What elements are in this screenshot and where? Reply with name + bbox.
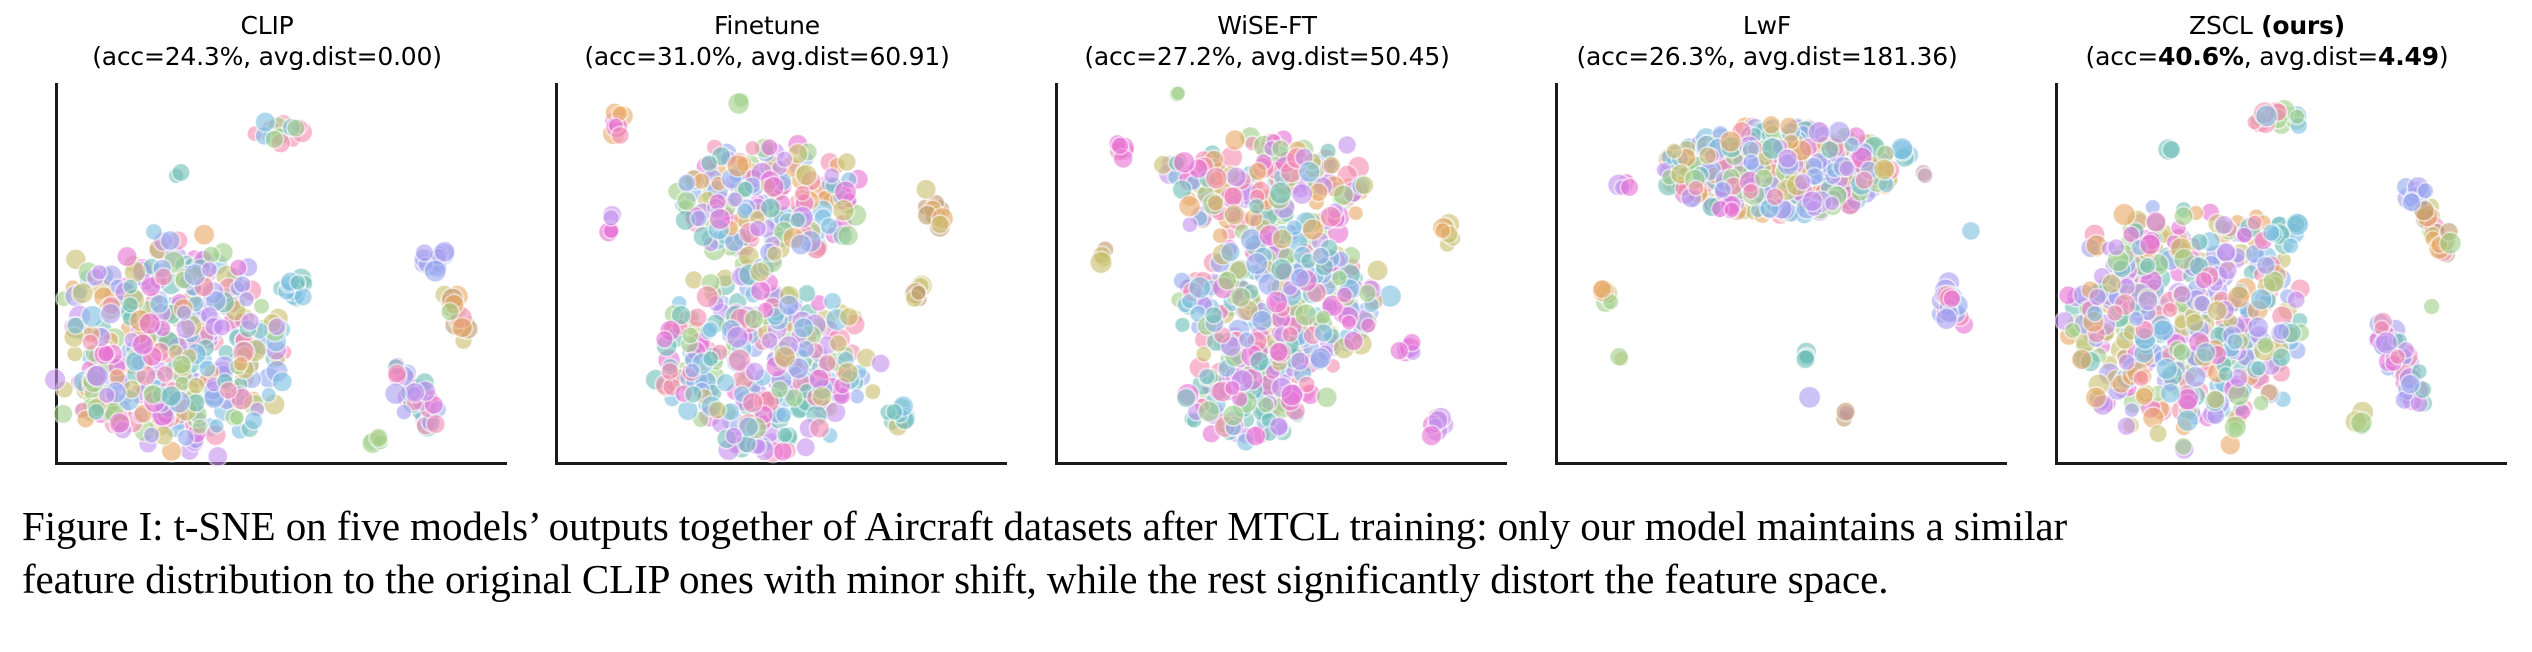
panel-title-clip: CLIP(acc=24.3%, avg.dist=0.00): [22, 10, 512, 72]
metrics-dist-value: 4.49: [2378, 42, 2439, 71]
panel-title-lwf: LwF(acc=26.3%, avg.dist=181.36): [1522, 10, 2012, 72]
panel-title-wiseft: WiSE-FT(acc=27.2%, avg.dist=50.45): [1022, 10, 1512, 72]
tsne-panel-clip: CLIP(acc=24.3%, avg.dist=0.00): [22, 0, 512, 490]
panel-model-name: WiSE-FT: [1217, 11, 1317, 40]
metrics-dist-label: , avg.dist=: [243, 42, 377, 71]
metrics-acc-value: 26.3%: [1649, 42, 1727, 71]
plot-area-clip: [55, 83, 507, 465]
metrics-dist-label: , avg.dist=: [735, 42, 869, 71]
metrics-dist-value: 60.91: [870, 42, 941, 71]
metrics-close-paren: ): [432, 42, 442, 71]
figure-caption: Figure I: t-SNE on five models’ outputs …: [22, 500, 2512, 606]
metrics-dist-value: 0.00: [377, 42, 432, 71]
metrics-dist-label: , avg.dist=: [1235, 42, 1369, 71]
metrics-acc-label: (acc=: [1084, 42, 1157, 71]
metrics-close-paren: ): [940, 42, 950, 71]
metrics-close-paren: ): [1948, 42, 1958, 71]
plot-area-wiseft: [1055, 83, 1507, 465]
tsne-panel-row: CLIP(acc=24.3%, avg.dist=0.00)Finetune(a…: [0, 0, 2532, 490]
tsne-panel-lwf: LwF(acc=26.3%, avg.dist=181.36): [1522, 0, 2012, 490]
metrics-close-paren: ): [1440, 42, 1450, 71]
panel-metrics: (acc=40.6%, avg.dist=4.49): [2022, 41, 2512, 72]
panel-title-zscl: ZSCL (ours)(acc=40.6%, avg.dist=4.49): [2022, 10, 2512, 72]
panel-metrics: (acc=31.0%, avg.dist=60.91): [522, 41, 1012, 72]
metrics-acc-label: (acc=: [92, 42, 165, 71]
metrics-acc-value: 24.3%: [165, 42, 243, 71]
tsne-panel-finetune: Finetune(acc=31.0%, avg.dist=60.91): [522, 0, 1012, 490]
panel-metrics: (acc=27.2%, avg.dist=50.45): [1022, 41, 1512, 72]
plot-area-finetune: [555, 83, 1007, 465]
panel-title-finetune: Finetune(acc=31.0%, avg.dist=60.91): [522, 10, 1012, 72]
tsne-panel-wiseft: WiSE-FT(acc=27.2%, avg.dist=50.45): [1022, 0, 1512, 490]
metrics-acc-label: (acc=: [2086, 42, 2159, 71]
panel-model-name: LwF: [1743, 11, 1791, 40]
panel-model-name: CLIP: [240, 11, 293, 40]
figure-root: CLIP(acc=24.3%, avg.dist=0.00)Finetune(a…: [0, 0, 2532, 652]
metrics-dist-value: 181.36: [1862, 42, 1948, 71]
scatter-points-clip: [58, 83, 507, 462]
metrics-dist-value: 50.45: [1370, 42, 1441, 71]
scatter-points-zscl: [2058, 83, 2507, 462]
caption-line-1: Figure I: t-SNE on five models’ outputs …: [22, 500, 2512, 553]
metrics-dist-label: , avg.dist=: [1727, 42, 1861, 71]
scatter-points-finetune: [558, 83, 1007, 462]
scatter-points-wiseft: [1058, 83, 1507, 462]
panel-metrics: (acc=26.3%, avg.dist=181.36): [1522, 41, 2012, 72]
metrics-close-paren: ): [2439, 42, 2449, 71]
panel-ours-badge: (ours): [2253, 11, 2345, 40]
panel-model-name: ZSCL (ours): [2189, 11, 2345, 40]
caption-line-2: feature distribution to the original CLI…: [22, 553, 2512, 606]
metrics-acc-value: 40.6%: [2158, 42, 2244, 71]
tsne-panel-zscl: ZSCL (ours)(acc=40.6%, avg.dist=4.49): [2022, 0, 2512, 490]
metrics-acc-value: 31.0%: [657, 42, 735, 71]
panel-metrics: (acc=24.3%, avg.dist=0.00): [22, 41, 512, 72]
plot-area-lwf: [1555, 83, 2007, 465]
metrics-acc-value: 27.2%: [1157, 42, 1235, 71]
scatter-points-lwf: [1558, 83, 2007, 462]
metrics-acc-label: (acc=: [1577, 42, 1650, 71]
plot-area-zscl: [2055, 83, 2507, 465]
panel-model-name: Finetune: [714, 11, 820, 40]
metrics-acc-label: (acc=: [584, 42, 657, 71]
metrics-dist-label: , avg.dist=: [2244, 42, 2378, 71]
